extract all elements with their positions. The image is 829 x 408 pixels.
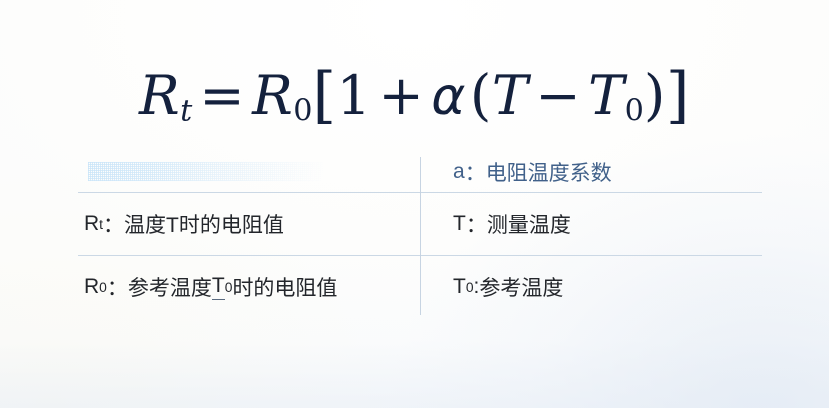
formula-paren-open: ( [470,63,492,127]
legend-cell-t0: T0: 参考温度 [420,272,762,302]
legend-cell-alpha: a：电阻温度系数 [420,157,762,187]
formula-reference-temperature-subscript: 0 [625,94,644,129]
slide-canvas: Rt=R0[1+α(T−T0)] a：电阻温度系数 Rt：温度T时的电阻值 T：… [0,0,829,408]
formula-bracket-close: ] [666,61,690,131]
legend-cell-t: T：测量温度 [420,209,762,239]
formula-lhs-symbol: R [139,64,180,127]
legend-separator: ： [107,272,128,302]
legend-symbol-alpha: a [453,160,465,184]
legend-symbol-t0-subscript: 0 [466,279,474,295]
legend-cell-empty [78,162,420,181]
formula-bracket-open: [ [312,61,336,131]
erased-text-artifact [88,162,323,181]
legend-symbol-t0: T [453,275,466,299]
legend-description-r0-suffix: 时的电阻值 [232,272,337,302]
legend-symbol-rt: R [84,212,99,236]
table-row: Rt：温度T时的电阻值 T：测量温度 [78,192,762,255]
legend-description-r0-variable: T [212,274,225,300]
resistance-temperature-formula: Rt=R0[1+α(T−T0)] [0,56,829,133]
legend-description-r0-prefix: 参考温度 [128,272,212,302]
formula-minus-sign: − [528,64,588,127]
formula-plus-sign: + [371,64,431,127]
legend-cell-rt: Rt：温度T时的电阻值 [78,209,420,239]
legend-symbol-t: T [453,212,466,236]
legend-description-alpha: 电阻温度系数 [486,157,612,187]
formula-paren-close: ) [644,63,666,127]
legend-description-rt: 温度T时的电阻值 [124,209,284,239]
formula-legend-table: a：电阻温度系数 Rt：温度T时的电阻值 T：测量温度 R0：参考温度T0时的电… [78,151,762,318]
legend-cell-r0: R0：参考温度T0时的电阻值 [78,272,420,302]
formula-temperature-variable: T [492,64,529,127]
formula-rhs-subscript: 0 [293,94,312,129]
formula-constant-one: 1 [337,64,372,127]
legend-separator: ： [466,209,487,239]
legend-description-r0-variable-subscript: 0 [225,279,233,295]
legend-description-t: 测量温度 [487,209,571,239]
table-row: R0：参考温度T0时的电阻值 T0: 参考温度 [78,255,762,318]
formula-equals-sign: = [192,64,252,127]
legend-description-t0: 参考温度 [479,272,563,302]
legend-separator: ： [465,157,486,187]
formula-reference-temperature-symbol: T [588,64,625,127]
formula-rhs-symbol: R [252,64,293,127]
legend-symbol-r0-subscript: 0 [99,279,107,295]
table-row: a：电阻温度系数 [78,151,762,192]
legend-symbol-r0: R [84,275,99,299]
formula-lhs-subscript: t [180,94,192,129]
legend-separator: ： [103,209,124,239]
formula-alpha-symbol: α [431,67,466,127]
